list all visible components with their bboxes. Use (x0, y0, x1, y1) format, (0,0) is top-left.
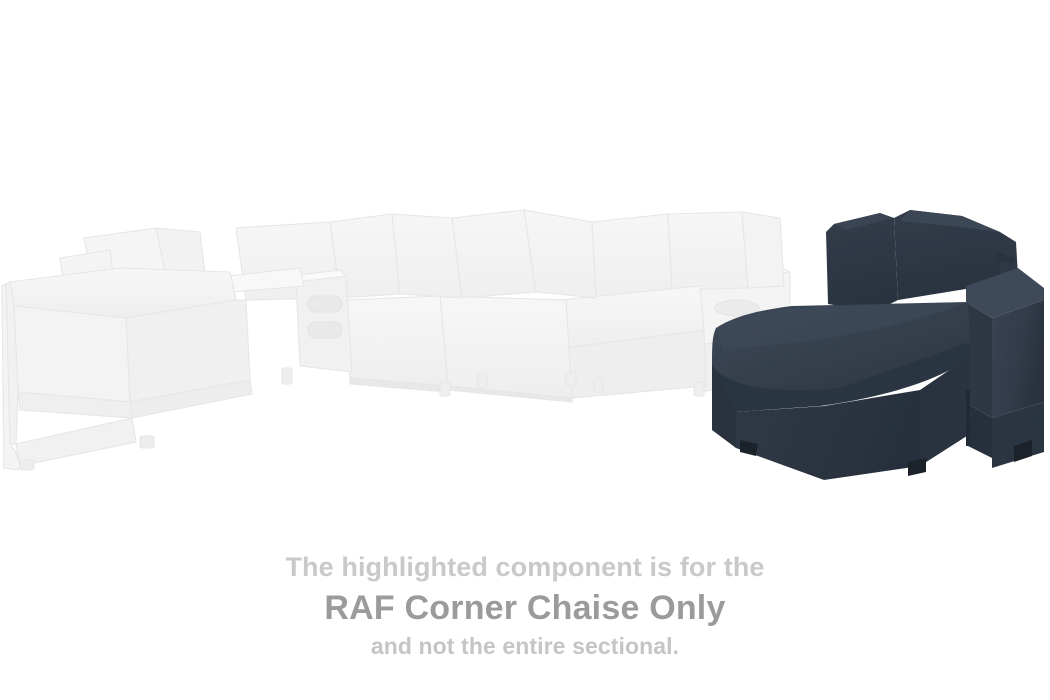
chaise-right-arm (966, 268, 1044, 418)
caption-component-name: RAF Corner Chaise Only (0, 586, 1050, 630)
ghost-seat-right-run (560, 286, 706, 398)
ghost-left-loveseat (2, 228, 252, 470)
ghost-armless-right-back (592, 212, 784, 298)
chaise-module-seam (966, 390, 970, 446)
caption-block: The highlighted component is for the RAF… (0, 548, 1050, 663)
caption-line-disclaimer: and not the entire sectional. (0, 630, 1050, 663)
product-image-card: The highlighted component is for the RAF… (0, 0, 1050, 700)
ghosted-sectional-group (2, 210, 790, 470)
sectional-illustration (0, 0, 1050, 530)
ghost-armless-left-seat (344, 296, 448, 392)
chaise-back-cushion-left (826, 213, 898, 312)
caption-line-primary: The highlighted component is for the (0, 548, 1050, 586)
